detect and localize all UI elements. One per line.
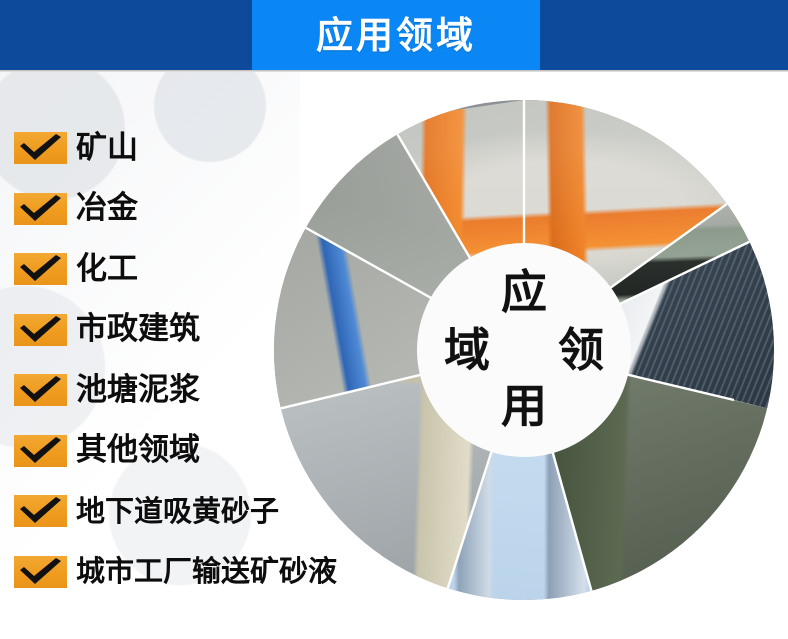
- feature-item[interactable]: 矿山: [14, 126, 138, 170]
- check-mark-icon: [14, 374, 67, 406]
- feature-item-label: 化工: [76, 254, 138, 285]
- feature-item[interactable]: 池塘泥浆: [14, 368, 200, 412]
- feature-item[interactable]: 化工: [14, 247, 138, 291]
- feature-item-label: 矿山: [76, 133, 138, 164]
- check-mark-icon: [14, 132, 67, 164]
- feature-item[interactable]: 其他领域: [14, 429, 200, 473]
- feature-item-label: 市政建筑: [76, 314, 200, 345]
- check-mark-icon: [14, 314, 67, 346]
- application-feature-list: 矿山冶金化工市政建筑池塘泥浆其他领域地下道吸黄砂子城市工厂输送矿砂液: [14, 72, 434, 639]
- page-header-band: 应用领域: [252, 0, 540, 70]
- page-header-bar: 应用领域: [0, 0, 788, 70]
- check-mark-icon: [14, 253, 67, 285]
- feature-item[interactable]: 地下道吸黄砂子: [14, 489, 279, 533]
- check-mark-icon: [14, 556, 67, 588]
- center-char-bottom: 用: [496, 383, 552, 429]
- center-char-right: 领: [553, 327, 609, 373]
- check-mark-icon: [14, 193, 67, 225]
- content-area: 应 域 领 用 矿山冶金化工市政建筑池塘泥浆其他领域地下道吸黄砂子城市工厂输送矿…: [0, 72, 788, 639]
- center-char-left: 域: [439, 327, 495, 373]
- check-mark-icon: [14, 435, 67, 467]
- collage-center-circle: 应 域 领 用: [417, 243, 631, 457]
- feature-item-label: 其他领域: [76, 435, 200, 466]
- feature-item-label: 池塘泥浆: [76, 375, 200, 406]
- feature-item[interactable]: 冶金: [14, 187, 138, 231]
- feature-item-label: 冶金: [76, 193, 138, 224]
- check-mark-icon: [14, 495, 67, 527]
- feature-item[interactable]: 市政建筑: [14, 308, 200, 352]
- center-char-top: 应: [496, 269, 552, 315]
- feature-item-label: 地下道吸黄砂子: [76, 497, 279, 526]
- feature-item[interactable]: 城市工厂输送矿砂液: [14, 550, 337, 594]
- feature-item-label: 城市工厂输送矿砂液: [76, 557, 337, 586]
- page-title: 应用领域: [316, 17, 476, 54]
